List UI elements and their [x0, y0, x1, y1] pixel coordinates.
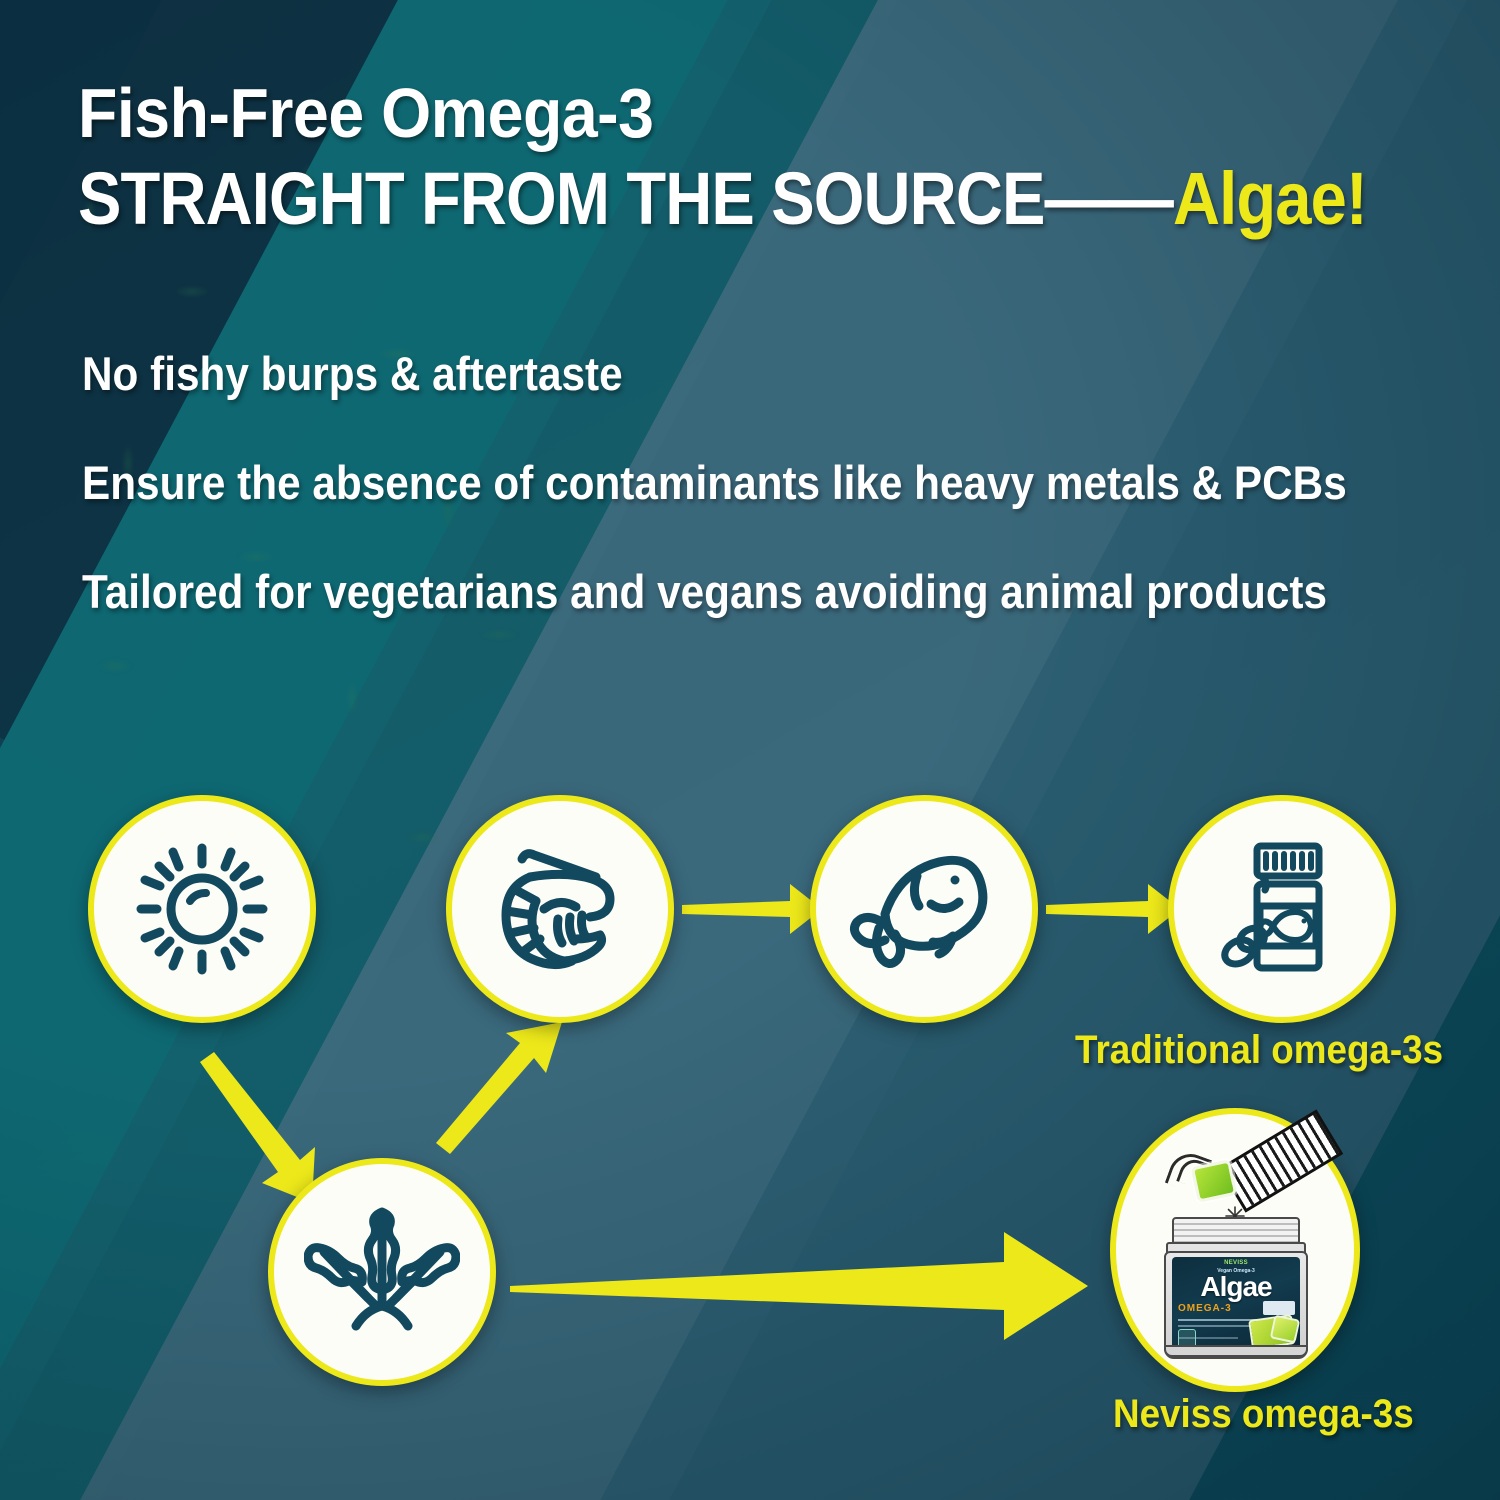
jar-base [1164, 1345, 1308, 1357]
benefit-item-2: Ensure the absence of contaminants like … [82, 459, 1342, 506]
headline-accent-algae: Algae [1173, 157, 1346, 240]
label-gummy-2 [1270, 1315, 1300, 1344]
sun-icon [127, 834, 277, 984]
seaweed-icon [304, 1194, 460, 1350]
benefit-item-3: Tailored for vegetarians and vegans avoi… [82, 568, 1342, 615]
product-brand: NEVISS [1172, 1260, 1300, 1266]
headline-line-1: Fish-Free Omega-3 [78, 78, 1357, 148]
product-label: NEVISS Vegan Omega-3 Algae OMEGA-3 [1172, 1257, 1300, 1353]
product-jar: NEVISS Vegan Omega-3 Algae OMEGA-3 [1160, 1217, 1308, 1355]
node-sun[interactable] [88, 795, 316, 1023]
caption-traditional-omega3s: Traditional omega-3s [1075, 1028, 1443, 1073]
node-fish-oil-bottle[interactable] [1168, 795, 1396, 1023]
infographic-canvas: Fish-Free Omega-3 STRAIGHT FROM THE SOUR… [0, 0, 1500, 1500]
product-name: Algae [1172, 1273, 1300, 1301]
algae-product-bottle-photo: NEVISS Vegan Omega-3 Algae OMEGA-3 [1150, 1145, 1320, 1355]
product-omega: OMEGA-3 [1178, 1303, 1232, 1314]
headline-line-2-white: STRAIGHT FROM THE SOURCE—— [78, 157, 1173, 240]
benefit-list: No fishy burps & aftertaste Ensure the a… [82, 350, 1482, 615]
headline-exclamation: ! [1346, 157, 1367, 240]
jar-body: NEVISS Vegan Omega-3 Algae OMEGA-3 [1164, 1251, 1308, 1359]
fish-icon [847, 832, 1001, 986]
fish-oil-bottle-icon [1207, 834, 1357, 984]
node-shrimp[interactable] [446, 795, 674, 1023]
floating-gummy [1191, 1159, 1238, 1203]
caption-neviss-omega3s: Neviss omega-3s [1113, 1392, 1414, 1437]
shrimp-icon [484, 833, 636, 985]
product-detail-line-2 [1178, 1325, 1254, 1327]
headline-line-2: STRAIGHT FROM THE SOURCE——Algae! [78, 162, 1301, 236]
headline-block: Fish-Free Omega-3 STRAIGHT FROM THE SOUR… [78, 78, 1468, 236]
node-algae-product[interactable]: NEVISS Vegan Omega-3 Algae OMEGA-3 [1110, 1108, 1360, 1392]
benefit-item-1: No fishy burps & aftertaste [82, 350, 1342, 397]
node-fish[interactable] [810, 795, 1038, 1023]
comb-graphic [1219, 1109, 1343, 1212]
node-seaweed[interactable] [268, 1158, 496, 1386]
product-badge [1263, 1301, 1295, 1315]
